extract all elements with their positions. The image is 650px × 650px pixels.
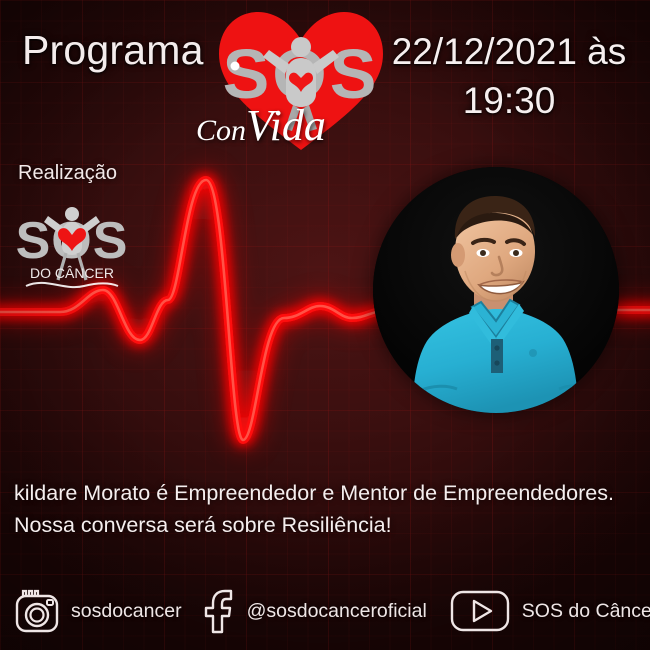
social-facebook[interactable]: @sosdocanceroficial bbox=[200, 587, 427, 635]
event-description: kildare Morato é Empreendedor e Mentor d… bbox=[14, 477, 640, 542]
page-title: Programa bbox=[22, 27, 204, 74]
event-datetime: 22/12/2021 às 19:30 bbox=[378, 28, 640, 126]
instagram-handle[interactable]: sosdocancer bbox=[71, 600, 182, 623]
event-time: 19:30 bbox=[378, 77, 640, 126]
youtube-channel[interactable]: SOS do Câncer bbox=[522, 600, 650, 623]
convida-con: Con bbox=[196, 114, 246, 147]
event-date: 22/12/2021 às bbox=[378, 28, 640, 77]
convida-wordmark: ConVida bbox=[196, 100, 386, 151]
description-line-2: Nossa conversa será sobre Resiliência! bbox=[14, 509, 640, 541]
convida-vida: Vida bbox=[246, 101, 326, 150]
sos-cancer-subtitle: DO CÂNCER bbox=[30, 265, 114, 281]
promo-poster: Programa 22/12/2021 às 19:30 SOS ConVida… bbox=[0, 0, 650, 650]
guest-photo-illustration bbox=[373, 167, 619, 413]
youtube-icon[interactable] bbox=[449, 588, 511, 634]
social-instagram[interactable]: sosdocancer bbox=[14, 588, 182, 634]
social-youtube[interactable]: SOS do Câncer bbox=[449, 588, 650, 634]
logo-dot bbox=[231, 62, 240, 71]
realizacao-label: Realização bbox=[18, 162, 117, 185]
facebook-handle[interactable]: @sosdocanceroficial bbox=[247, 600, 427, 623]
instagram-icon[interactable] bbox=[14, 588, 60, 634]
guest-portrait bbox=[373, 167, 619, 413]
social-footer: sosdocancer @sosdocanceroficial SOS do C… bbox=[0, 580, 650, 642]
sos-do-cancer-logo: SOS DO CÂNCER bbox=[12, 196, 132, 296]
description-line-1: kildare Morato é Empreendedor e Mentor d… bbox=[14, 477, 640, 509]
facebook-icon[interactable] bbox=[200, 587, 236, 635]
logo-swoosh bbox=[26, 283, 118, 287]
